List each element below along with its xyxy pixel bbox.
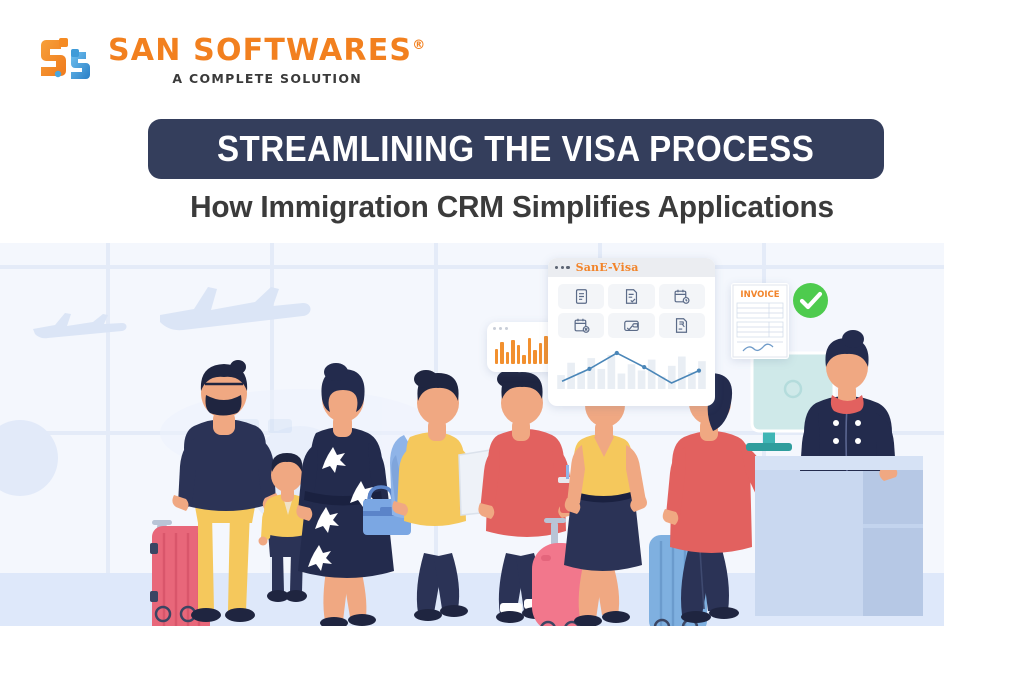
brand-name: SAN SOFTWARES®: [108, 36, 426, 66]
brand-tagline: A COMPLETE SOLUTION: [108, 71, 426, 86]
mini-bar-chart: [493, 334, 553, 364]
wallet-check-icon[interactable]: [608, 313, 654, 338]
mini-bar-10: [544, 336, 547, 364]
brand-wordmark: SAN SOFTWARES® A COMPLETE SOLUTION: [108, 36, 426, 86]
applications-trend-chart: [548, 341, 715, 393]
trend-backdrop-bar: [648, 360, 656, 389]
trend-backdrop-bar: [628, 364, 636, 389]
san-softwares-s-logo: [38, 34, 94, 88]
registered-trademark-icon: ®: [412, 38, 426, 53]
document-icon[interactable]: [558, 284, 604, 309]
mini-bar-3: [506, 352, 509, 364]
invoice-title-text: INVOICE: [740, 290, 779, 300]
mini-bar-6: [522, 355, 525, 364]
window-dots-icon: [555, 266, 570, 269]
immigration-counter: [755, 456, 923, 616]
trend-backdrop-bar: [597, 369, 605, 389]
trend-marker: [587, 367, 591, 371]
trend-marker: [615, 351, 619, 355]
trend-backdrop-bar: [638, 370, 646, 389]
invoice-rupee-icon[interactable]: [659, 313, 705, 338]
calendar-cancel-icon[interactable]: [558, 313, 604, 338]
trend-backdrop-bar: [608, 355, 616, 389]
sane-visa-titlebar: SanE-Visa: [548, 258, 715, 277]
mini-bar-9: [539, 343, 542, 364]
mini-bar-4: [511, 340, 514, 364]
calendar-clock-icon[interactable]: [659, 284, 705, 309]
check-circle-icon: [793, 283, 828, 318]
card-window-dots: [493, 327, 553, 330]
illustration-scene: [0, 243, 1024, 626]
document-check-icon[interactable]: [608, 284, 654, 309]
brand-header: SAN SOFTWARES® A COMPLETE SOLUTION: [38, 34, 426, 88]
approved-check-badge: [793, 283, 828, 318]
trend-backdrop-bar: [678, 357, 686, 389]
trend-marker: [642, 365, 646, 369]
headline-banner-text: STREAMLINING THE VISA PROCESS: [217, 128, 814, 170]
sane-visa-title: SanE-Visa: [576, 261, 639, 274]
trend-backdrop-bar: [618, 374, 626, 389]
trend-backdrop-bar: [557, 375, 565, 389]
trend-backdrop-bar: [698, 361, 706, 389]
brand-name-text: SAN SOFTWARES: [108, 33, 412, 68]
trend-marker: [697, 369, 701, 373]
mini-bar-1: [495, 349, 498, 364]
sane-visa-icon-grid: [548, 277, 715, 341]
mini-bar-8: [533, 350, 536, 364]
mini-bar-7: [528, 338, 531, 364]
invoice-document[interactable]: INVOICE: [731, 283, 789, 359]
mini-bar-2: [500, 342, 503, 365]
sane-visa-window[interactable]: SanE-Visa: [548, 258, 715, 406]
mini-bar-5: [517, 345, 520, 364]
trend-backdrop-bar: [668, 366, 676, 389]
trend-backdrop-bar: [587, 358, 595, 389]
headline-subtitle: How Immigration CRM Simplifies Applicati…: [20, 189, 1003, 225]
headline-banner: STREAMLINING THE VISA PROCESS: [148, 119, 884, 179]
